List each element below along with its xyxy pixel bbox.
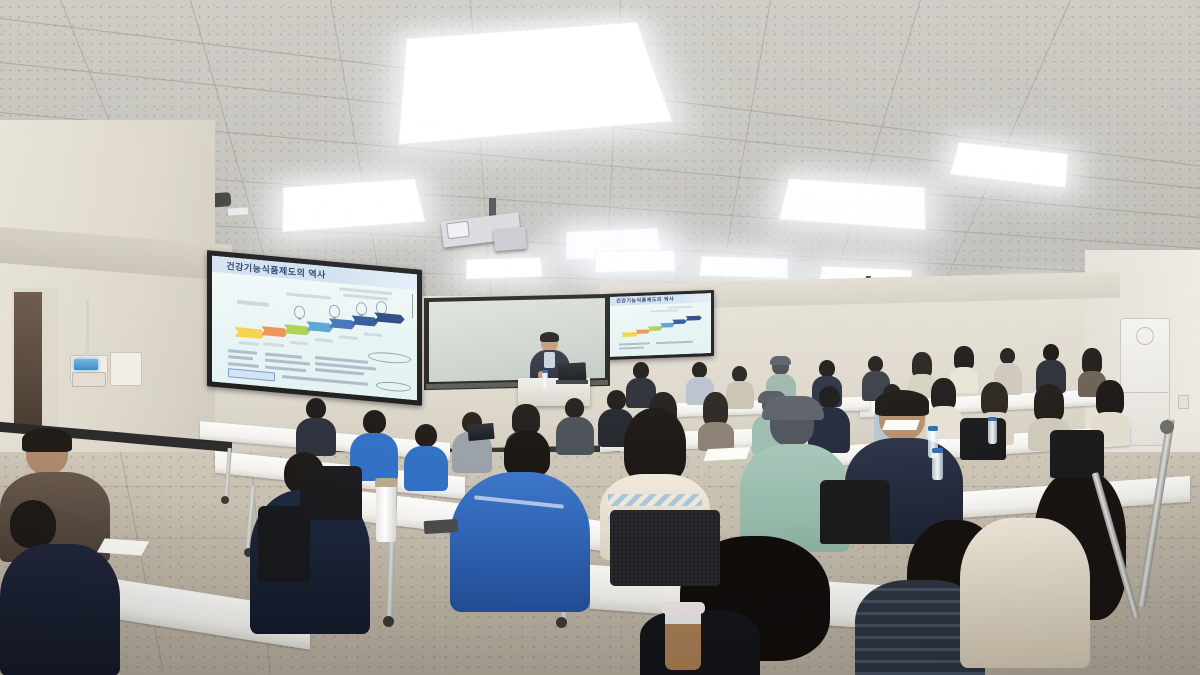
insulated-tumbler[interactable] <box>376 484 396 542</box>
handout-paper-2[interactable] <box>97 538 149 555</box>
student-front-blue <box>450 430 590 610</box>
slide-side-caption <box>237 299 270 306</box>
presenter-water-bottle[interactable] <box>542 372 548 388</box>
slide-highlight-box <box>228 368 275 382</box>
equipment-stand-knob[interactable] <box>1160 420 1174 434</box>
control-panel-display <box>74 359 98 370</box>
water-bottle-3[interactable] <box>988 420 997 444</box>
front-blue-torso <box>450 472 590 612</box>
chair-right-2[interactable] <box>960 418 1006 460</box>
projector-left-body <box>493 227 527 252</box>
cap-icon <box>770 356 791 365</box>
student-left-1 <box>296 398 336 456</box>
front-blue-hair <box>504 430 550 476</box>
wall-outlet[interactable] <box>1178 395 1189 409</box>
ceiling-light-panel-7 <box>594 250 676 273</box>
chair-mid-left-2[interactable] <box>258 506 310 582</box>
slide-right-title-text: 건강기능식품제도의 역사 <box>609 295 674 305</box>
projector-lens-left <box>446 221 470 240</box>
ceiling-light-panel-4 <box>466 257 543 279</box>
gray-cap-icon <box>762 396 824 420</box>
slide-left: 건강기능식품제도의 역사 <box>212 256 417 401</box>
handout-paper-1[interactable] <box>703 447 750 461</box>
presenter-laptop-screen[interactable] <box>558 362 587 381</box>
ceiling-fixture <box>228 207 248 215</box>
coffee-cup-lid <box>661 602 705 614</box>
screen-cord-left <box>412 294 413 318</box>
presenter-laptop-base <box>556 380 588 384</box>
front-rightcream-coat <box>960 518 1090 668</box>
student-tablet[interactable] <box>467 423 494 441</box>
conduit-pipe <box>86 300 89 356</box>
chair-front-center[interactable] <box>610 510 720 586</box>
slide-ellipse-callout-1 <box>368 350 411 365</box>
slide-ellipse-callout-2 <box>376 380 411 393</box>
presenter-hair <box>540 332 559 342</box>
appliance-vent-icon <box>1136 327 1154 345</box>
main-screen-surface[interactable]: 건강기능식품제도의 역사 <box>212 256 417 401</box>
open-doorway[interactable] <box>14 292 42 428</box>
light-switch-panel[interactable] <box>110 352 142 386</box>
ceiling-light-panel-8 <box>699 256 788 279</box>
front-cream-hair <box>624 408 686 482</box>
presenter-shirt <box>544 352 555 368</box>
student-far-left-2 <box>0 500 120 675</box>
handout-paper-3[interactable] <box>882 420 920 430</box>
timeline-segment-7 <box>374 312 405 324</box>
slide-right: 건강기능식품제도의 역사 <box>609 293 711 357</box>
chair-right-1[interactable] <box>1050 430 1104 478</box>
student-left-3 <box>404 424 448 490</box>
iced-coffee-cup[interactable] <box>665 608 701 670</box>
smartphone-on-desk[interactable] <box>424 519 459 534</box>
front-cream-pattern <box>608 494 702 506</box>
classroom-photo-scene: 건강기능식품제도의 역사 <box>0 0 1200 675</box>
tumbler-lid <box>375 478 397 487</box>
switch-plate[interactable] <box>72 372 106 387</box>
secondary-screen-surface[interactable]: 건강기능식품제도의 역사 <box>609 293 711 357</box>
chair-front-right[interactable] <box>820 480 890 544</box>
water-bottle-2[interactable] <box>932 452 943 480</box>
